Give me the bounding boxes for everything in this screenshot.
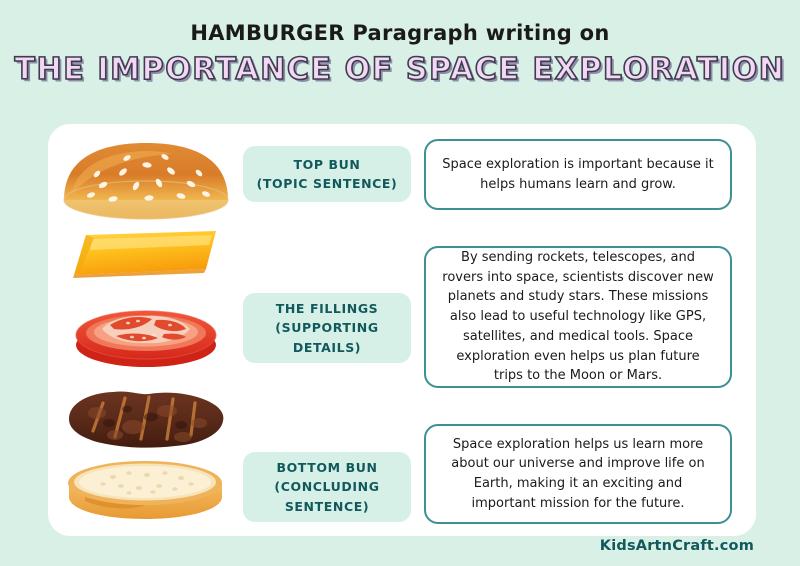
label-bottom-bun: BOTTOM BUN (CONCLUDING SENTENCE): [243, 452, 411, 522]
illustration-tomato: [58, 288, 233, 372]
illustration-top-bun: [58, 135, 233, 227]
label-fillings: THE FILLINGS (SUPPORTING DETAILS): [243, 293, 411, 363]
illustration-patty: [58, 385, 233, 453]
tomato-slice-icon: [66, 289, 226, 371]
sesame-top-bun-icon: [61, 138, 231, 224]
page-header: HAMBURGER Paragraph writing on THE IMPOR…: [0, 0, 800, 86]
text-box-supporting-details: By sending rockets, telescopes, and rove…: [424, 246, 732, 388]
illustration-bottom-bun: [58, 455, 233, 525]
concluding-sentence-text: Space exploration helps us learn more ab…: [440, 435, 716, 514]
label-top-bun: TOP BUN (TOPIC SENTENCE): [243, 146, 411, 202]
text-box-concluding-sentence: Space exploration helps us learn more ab…: [424, 424, 732, 524]
bottom-bun-icon: [63, 457, 228, 523]
topic-sentence-text: Space exploration is important because i…: [440, 155, 716, 195]
label-bottom-bun-text: BOTTOM BUN (CONCLUDING SENTENCE): [274, 458, 379, 516]
page-title: THE IMPORTANCE OF SPACE EXPLORATION: [0, 54, 800, 86]
beef-patty-icon: [63, 387, 228, 451]
site-watermark: KidsArtnCraft.com: [600, 538, 754, 554]
text-box-topic-sentence: Space exploration is important because i…: [424, 139, 732, 210]
label-fillings-text: THE FILLINGS (SUPPORTING DETAILS): [275, 299, 378, 357]
cheese-slice-icon: [66, 229, 226, 279]
supporting-details-text: By sending rockets, telescopes, and rove…: [440, 248, 716, 386]
subtitle: HAMBURGER Paragraph writing on: [0, 22, 800, 45]
illustration-cheese: [58, 228, 233, 280]
label-top-bun-text: TOP BUN (TOPIC SENTENCE): [257, 155, 398, 194]
